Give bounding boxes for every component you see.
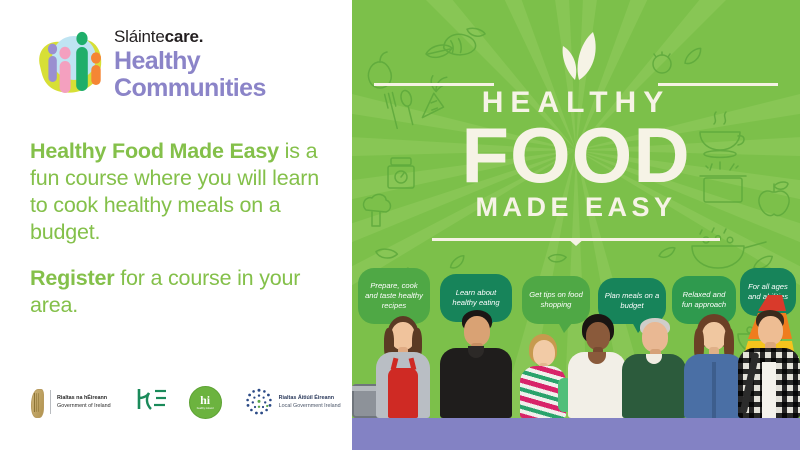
headline-rule-left xyxy=(374,83,494,86)
leaf-icon xyxy=(375,245,398,261)
healthy-food-made-easy-promo: Sláintecare. Healthy Communities Healthy… xyxy=(0,0,800,450)
course-participants-photo xyxy=(352,298,800,418)
hi-subtext: healthy ireland xyxy=(197,407,214,410)
dotted-circle-icon xyxy=(244,387,274,417)
man-in-black-polo-shirt xyxy=(440,310,512,418)
face xyxy=(702,322,726,350)
bottom-purple-bar xyxy=(352,418,800,450)
partner-logo-strip: Rialtas na hÉireann Government of Irelan… xyxy=(30,381,342,423)
tomato-icon xyxy=(653,52,671,73)
headline-made-easy: MADE EASY xyxy=(352,194,800,221)
logo-government-of-ireland: Rialtas na hÉireann Government of Irelan… xyxy=(30,389,111,416)
face xyxy=(758,316,783,345)
logo-hse xyxy=(135,386,169,418)
red-apron xyxy=(388,368,418,418)
logo-divider xyxy=(50,390,51,414)
black-polo xyxy=(440,348,512,418)
lgi-line-english: Local Government Ireland xyxy=(279,402,341,410)
local-government-ireland-text: Rialtas Áitiúil Éireann Local Government… xyxy=(279,394,341,411)
lgi-line-irish: Rialtas Áitiúil Éireann xyxy=(279,394,341,402)
healthy-line: Healthy xyxy=(114,48,266,75)
hi-mark: hi xyxy=(200,394,210,406)
logo-local-government-ireland: Rialtas Áitiúil Éireann Local Government… xyxy=(244,387,341,417)
leaf-icon xyxy=(466,24,486,40)
communities-line: Communities xyxy=(114,75,266,102)
leaf-icon xyxy=(682,47,705,66)
course-name: Healthy Food Made Easy xyxy=(30,139,279,163)
older-man-in-green-sweater xyxy=(622,316,686,418)
description-paragraph: Healthy Food Made Easy is a fun course w… xyxy=(30,138,330,246)
course-description: Healthy Food Made Easy is a fun course w… xyxy=(30,138,330,319)
poster-headline: HEALTHY FOOD MADE EASY xyxy=(352,88,800,221)
slaintecare-light: Sláinte xyxy=(114,27,165,46)
slaintecare-people-blob-icon xyxy=(30,22,108,100)
woman-in-denim-shirt xyxy=(682,314,746,418)
headline-food: FOOD xyxy=(352,120,800,192)
two-leaves-icon xyxy=(537,26,615,89)
leaf-icon xyxy=(658,247,676,258)
register-word: Register xyxy=(30,266,114,290)
poster-artwork: HEALTHY FOOD MADE EASY Prepare, cook and… xyxy=(352,0,800,450)
girl-in-striped-top xyxy=(516,332,570,418)
government-of-ireland-text: Rialtas na hÉireann Government of Irelan… xyxy=(57,394,111,410)
shirt-placket xyxy=(712,362,716,418)
woman-in-red-apron-with-pot xyxy=(372,314,434,418)
rule-notch-icon xyxy=(567,238,585,246)
harp-icon xyxy=(30,389,43,416)
register-paragraph: Register for a course in your area. xyxy=(30,265,330,319)
headline-rule-right xyxy=(658,83,778,86)
face xyxy=(464,316,490,346)
gov-line-english: Government of Ireland xyxy=(57,402,111,410)
face xyxy=(642,322,668,352)
healthy-ireland-badge-icon: hi healthy ireland xyxy=(189,386,222,419)
slaintecare-healthy-communities-logo: Sláintecare. Healthy Communities xyxy=(30,22,266,101)
left-info-panel: Sláintecare. Healthy Communities Healthy… xyxy=(0,0,352,450)
hse-logo-icon xyxy=(135,386,169,418)
woman-in-white-blouse xyxy=(566,314,628,418)
slaintecare-bold: care. xyxy=(165,27,204,46)
logo-healthy-ireland: hi healthy ireland xyxy=(189,386,222,419)
slaintecare-wordmark: Sláintecare. xyxy=(114,28,266,45)
gov-line-irish: Rialtas na hÉireann xyxy=(57,394,111,402)
brand-wordmark: Sláintecare. Healthy Communities xyxy=(114,22,266,101)
face xyxy=(586,322,610,350)
young-man-in-checked-shirt xyxy=(738,310,800,418)
white-tshirt xyxy=(762,362,776,418)
